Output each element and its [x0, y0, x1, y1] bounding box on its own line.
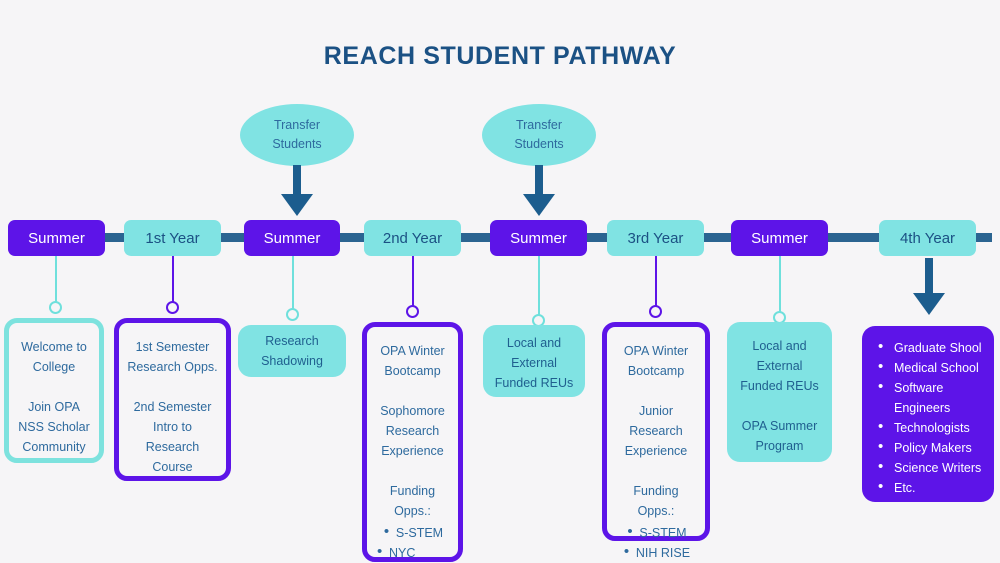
card-text-block: OPA Winter Bootcamp [615, 341, 697, 381]
timeline-item-summer-2[interactable]: Summer [244, 220, 340, 256]
transfer-label-line2: Students [514, 135, 563, 154]
connector-first-year-research [166, 256, 179, 314]
timeline-item-1st-year[interactable]: 1st Year [124, 220, 221, 256]
card-junior-summer-reus[interactable]: Local and External Funded REUs OPA Summe… [727, 322, 832, 462]
card-text-block: Local and External Funded REUs [491, 333, 577, 393]
timeline-item-summer-1[interactable]: Summer [8, 220, 105, 256]
card-list-heading: Funding Opps.: [615, 481, 697, 521]
transfer-arrow-icon-2 [523, 165, 555, 216]
card-text-block: Junior Research Experience [615, 401, 697, 461]
connector-research-shadowing [286, 256, 299, 321]
card-sophomore-bootcamp[interactable]: OPA Winter Bootcamp Sophomore Research E… [362, 322, 463, 562]
transfer-arrow-icon-1 [281, 165, 313, 216]
list-item: Technologists [878, 418, 988, 438]
funding-opps-list: S-STEM NIH RISE Goldwater [615, 523, 697, 563]
list-item: Medical School [878, 358, 988, 378]
list-item: Graduate Shool [878, 338, 988, 358]
outcomes-list: Graduate Shool Medical School Software E… [878, 338, 988, 498]
list-item: NYC LSAMP [375, 543, 450, 563]
timeline-item-4th-year[interactable]: 4th Year [879, 220, 976, 256]
list-item: Etc. [878, 478, 988, 498]
list-item: Software Engineers [878, 378, 988, 418]
card-text-block: Research Shadowing [246, 331, 338, 371]
transfer-label-line1: Transfer [516, 116, 562, 135]
connector-sophomore-summer-reus [532, 256, 545, 327]
list-item: Policy Makers [878, 438, 988, 458]
timeline-item-summer-3[interactable]: Summer [490, 220, 587, 256]
page-title: REACH STUDENT PATHWAY [0, 42, 1000, 71]
card-welcome-to-college[interactable]: Welcome to College Join OPA NSS Scholar … [4, 318, 104, 463]
card-sophomore-summer-reus[interactable]: Local and External Funded REUs [483, 325, 585, 397]
timeline-item-3rd-year[interactable]: 3rd Year [607, 220, 704, 256]
card-research-shadowing[interactable]: Research Shadowing [238, 325, 346, 377]
funding-opps-list: S-STEM NYC LSAMP Goldwater [375, 523, 450, 563]
card-first-year-research[interactable]: 1st Semester Research Opps. 2nd Semester… [114, 318, 231, 481]
list-item: NIH RISE [622, 543, 690, 563]
transfer-students-node-2: Transfer Students [482, 104, 596, 166]
outcomes-arrow-icon [913, 258, 945, 315]
timeline-item-2nd-year[interactable]: 2nd Year [364, 220, 461, 256]
card-text-block: OPA Summer Program [735, 416, 824, 456]
card-text-block: Local and External Funded REUs [735, 336, 824, 396]
transfer-label-line1: Transfer [274, 116, 320, 135]
card-text-block: Welcome to College [17, 337, 91, 377]
list-item: S-STEM [625, 523, 686, 543]
transfer-label-line2: Students [272, 135, 321, 154]
list-item: S-STEM [382, 523, 443, 543]
connector-welcome-to-college [49, 256, 62, 314]
connector-junior-bootcamp [649, 256, 662, 318]
card-text-block: Sophomore Research Experience [375, 401, 450, 461]
card-junior-bootcamp[interactable]: OPA Winter Bootcamp Junior Research Expe… [602, 322, 710, 541]
card-text-block: 1st Semester Research Opps. [127, 337, 218, 377]
card-list-heading: Funding Opps.: [375, 481, 450, 521]
timeline-item-summer-4[interactable]: Summer [731, 220, 828, 256]
card-outcomes[interactable]: Graduate Shool Medical School Software E… [862, 326, 994, 502]
connector-junior-summer-reus [773, 256, 786, 324]
diagram-canvas: REACH STUDENT PATHWAY Transfer Students … [0, 0, 1000, 563]
connector-sophomore-bootcamp [406, 256, 419, 318]
transfer-students-node-1: Transfer Students [240, 104, 354, 166]
card-text-block: OPA Winter Bootcamp [375, 341, 450, 381]
list-item: Science Writers [878, 458, 988, 478]
card-text-block: 2nd Semester Intro to Research Course [127, 397, 218, 477]
card-text-block: Join OPA NSS Scholar Community [17, 397, 91, 457]
